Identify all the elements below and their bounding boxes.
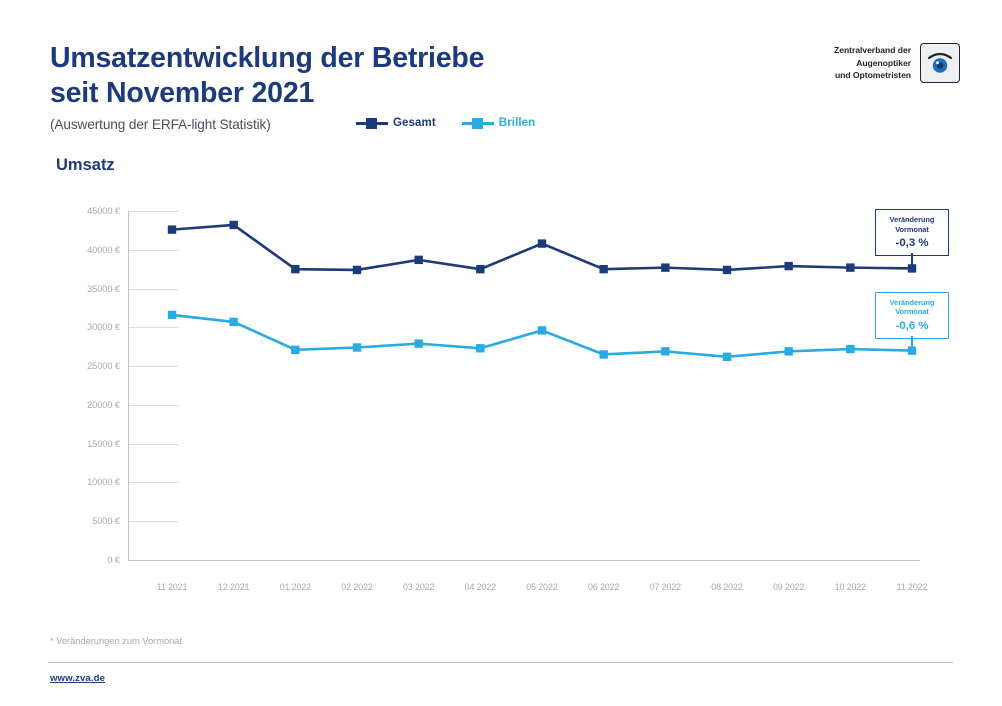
data-point-marker[interactable] — [476, 344, 484, 352]
data-point-marker[interactable] — [538, 326, 546, 334]
callout-brillen-stem — [911, 336, 913, 351]
data-point-marker[interactable] — [784, 262, 792, 270]
data-point-marker[interactable] — [414, 256, 422, 264]
logo-text-line-1: Zentralverband der — [834, 44, 911, 56]
logo-text-line-2: Augenoptiker — [834, 57, 911, 69]
data-point-marker[interactable] — [846, 345, 854, 353]
data-point-marker[interactable] — [661, 347, 669, 355]
callout-gesamt-caption-line-1: Veränderung — [878, 215, 946, 224]
chart-plot-area: 0 €5000 €10000 €15000 €20000 €25000 €300… — [48, 200, 938, 600]
logo-text: Zentralverband der Augenoptiker und Opto… — [834, 44, 911, 81]
data-point-marker[interactable] — [538, 239, 546, 247]
legend-label-gesamt: Gesamt — [393, 117, 436, 129]
series-line-brillen — [172, 315, 912, 357]
data-point-marker[interactable] — [846, 263, 854, 271]
callout-brillen-value: -0,6 % — [878, 320, 946, 332]
data-point-marker[interactable] — [784, 347, 792, 355]
eye-icon — [925, 51, 955, 75]
page-title: Umsatzentwicklung der Betriebe seit Nove… — [50, 41, 690, 111]
callout-gesamt-caption-line-2: Vormonat — [878, 225, 946, 234]
data-point-marker[interactable] — [476, 265, 484, 273]
data-point-marker[interactable] — [168, 311, 176, 319]
page-subtitle: (Auswertung der ERFA-light Statistik) — [50, 117, 271, 132]
data-point-marker[interactable] — [229, 318, 237, 326]
logo-text-line-3: und Optometristen — [834, 69, 911, 81]
chart-page: Umsatzentwicklung der Betriebe seit Nove… — [0, 0, 1002, 706]
data-point-marker[interactable] — [599, 265, 607, 273]
data-point-marker[interactable] — [723, 353, 731, 361]
page-title-line-2: seit November 2021 — [50, 76, 690, 111]
page-title-line-1: Umsatzentwicklung der Betriebe — [50, 41, 690, 76]
legend-item-gesamt[interactable]: Gesamt — [356, 117, 436, 129]
data-point-marker[interactable] — [229, 221, 237, 229]
data-point-marker[interactable] — [414, 339, 422, 347]
callout-brillen: Veränderung Vormonat -0,6 % — [875, 292, 949, 339]
data-point-marker[interactable] — [291, 346, 299, 354]
data-point-marker[interactable] — [661, 263, 669, 271]
callout-brillen-caption-line-2: Vormonat — [878, 307, 946, 316]
chart-series-layer — [48, 200, 938, 600]
footer-divider — [48, 662, 953, 663]
data-point-marker[interactable] — [353, 266, 361, 274]
callout-brillen-caption-line-1: Veränderung — [878, 298, 946, 307]
legend-marker-gesamt-icon — [356, 117, 388, 129]
callout-gesamt: Veränderung Vormonat -0,3 % — [875, 209, 949, 256]
website-url-link[interactable]: www.zva.de — [50, 673, 105, 684]
callout-gesamt-caption: Veränderung Vormonat — [878, 215, 946, 234]
chart-legend: Gesamt Brillen — [356, 117, 535, 129]
legend-marker-brillen-icon — [462, 117, 494, 129]
legend-item-brillen[interactable]: Brillen — [462, 117, 536, 129]
legend-label-brillen: Brillen — [499, 117, 536, 129]
logo-badge — [920, 43, 960, 83]
chart-footnote: * Veränderungen zum Vormonat — [50, 635, 182, 646]
callout-gesamt-value: -0,3 % — [878, 237, 946, 249]
data-point-marker[interactable] — [353, 343, 361, 351]
data-point-marker[interactable] — [599, 350, 607, 358]
data-point-marker[interactable] — [168, 225, 176, 233]
callout-gesamt-stem — [911, 253, 913, 268]
chart-axis-title: Umsatz — [56, 156, 115, 175]
organization-logo: Zentralverband der Augenoptiker und Opto… — [834, 43, 960, 83]
data-point-marker[interactable] — [723, 266, 731, 274]
data-point-marker[interactable] — [291, 265, 299, 273]
callout-brillen-caption: Veränderung Vormonat — [878, 298, 946, 317]
